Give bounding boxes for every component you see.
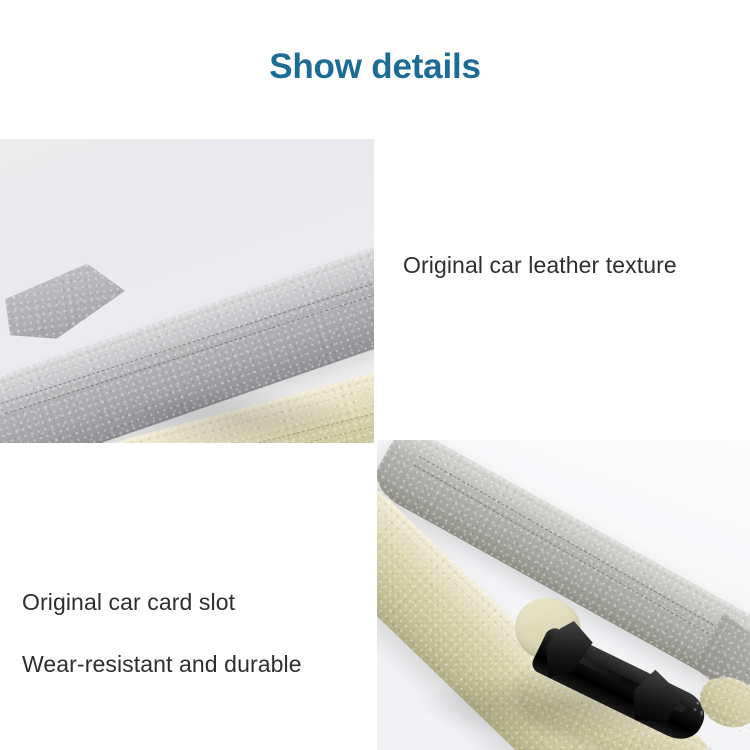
caption-leather-texture: Original car leather texture	[403, 250, 677, 281]
page-title: Show details	[0, 48, 750, 87]
product-detail-page: Show details Original car leather textur…	[0, 0, 750, 750]
gray-handle-tip	[2, 259, 131, 345]
caption-card-slot-line-1: Original car card slot	[22, 587, 302, 618]
card-slot-photo	[377, 440, 750, 750]
caption-card-slot-line-2: Wear-resistant and durable	[22, 649, 302, 680]
leather-texture-photo	[0, 139, 374, 443]
caption-card-slot: Original car card slot Wear-resistant an…	[22, 556, 302, 711]
leather-grain-texture	[2, 259, 131, 345]
